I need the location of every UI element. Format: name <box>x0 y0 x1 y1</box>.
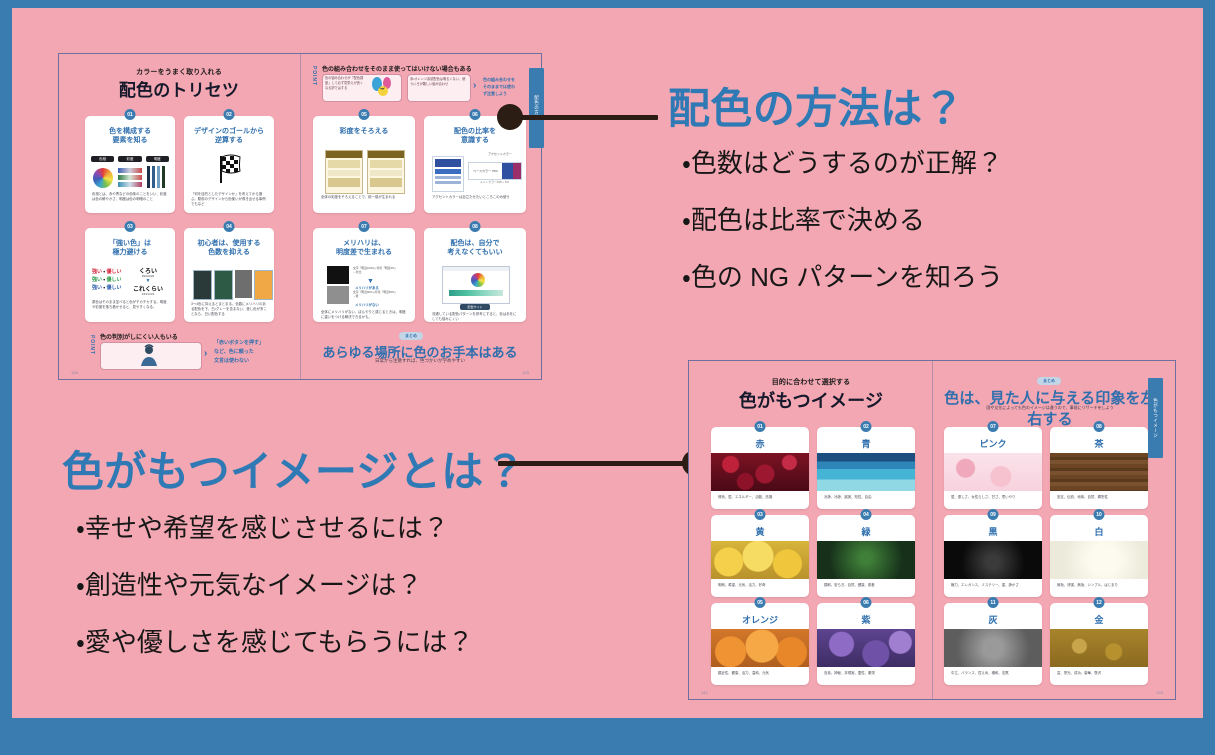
callout-top-title: 配色の方法は？ <box>668 75 965 136</box>
point-label-right: POINT <box>311 66 317 86</box>
color-card-yellow-name: 黄 <box>711 527 809 538</box>
card-04-heading: 初心者は、使用する色数を抑える <box>189 240 269 258</box>
color-card-pink-name: ピンク <box>944 439 1042 450</box>
card-07-badge: 07 <box>359 221 370 232</box>
color-card-gray-keywords: 中立、バランス、控えめ、穏和、沈黙 <box>951 671 1035 676</box>
color-card-black-badge: 09 <box>988 509 999 520</box>
color-card-black-photo <box>944 541 1042 579</box>
point-note-left: 「赤いボタンを押す」など、色に頼った文言は使わない <box>214 339 274 366</box>
color-card-purple-photo <box>817 629 915 667</box>
color-card-green[interactable]: 緑 調和、安らぎ、自然、健康、癒着 <box>817 515 915 597</box>
callout-bottom-title: 色がもつイメージとは？ <box>62 438 526 499</box>
contrast-sample-dark <box>327 266 349 284</box>
leader-line-bottom <box>498 461 694 466</box>
color-card-pink-badge: 07 <box>988 421 999 432</box>
card-05-badge: 05 <box>359 109 370 120</box>
card-05[interactable]: 彩度をそろえる 全体の彩度をそろえることで、統一感が生まれる <box>313 116 415 213</box>
saturation-gradient-3 <box>118 182 142 187</box>
card-06-badge: 06 <box>470 109 481 120</box>
color-card-brown[interactable]: 茶 安定、伝統、地味、自然、郷愁性 <box>1050 427 1148 509</box>
value-bars <box>147 166 165 188</box>
card-02-heading: デザインのゴールから逆算する <box>189 128 269 146</box>
card-01-body: 色相とは、赤や青などの色味のことをいい、彩度は色の鮮やかさ、明度は色の明暗のこと <box>92 192 168 202</box>
color-card-blue-badge: 02 <box>861 421 872 432</box>
card-02[interactable]: デザインのゴールから逆算する 「何を目的としたデザインか」を考えてから選ぶ。駅前… <box>184 116 274 213</box>
card-03-body: 原色はそのまま並べると色がチカチカする。明度や彩度を落ち着かせると、見やすくなる… <box>92 300 168 310</box>
color-card-red-keywords: 情熱、愛、エネルギー、活動、高揚 <box>718 495 802 500</box>
color-card-pink[interactable]: ピンク 愛、優しさ、女性らしさ、甘さ、思いやり <box>944 427 1042 509</box>
card-04-badge: 04 <box>224 221 235 232</box>
color-card-orange-photo <box>711 629 809 667</box>
color-card-blue-photo <box>817 453 915 491</box>
spread-bottom-right-sub: 国や文化によっても色のイメージは違うので、事前にリサーチをしよう <box>939 405 1161 411</box>
spread-top-footer-badge: まとめ <box>399 332 423 340</box>
contrast-sample-light <box>327 286 349 304</box>
color-card-yellow-badge: 03 <box>755 509 766 520</box>
spread-gutter <box>300 54 301 379</box>
color-card-gold-name: 金 <box>1050 615 1148 626</box>
point-box-b-text: 赤・オレンジ系統配色は明るくない、使ういろが難しい組み合わせ <box>410 77 466 87</box>
slide-root: カラーをうまく取り入れる 配色のトリセツ 色を構成する要素を知る 色相 彩度 明… <box>0 0 1215 755</box>
color-card-orange-name: オレンジ <box>711 615 809 626</box>
spread-top-side-tab[interactable]: 配色の方法 <box>529 68 544 148</box>
color-card-blue-name: 青 <box>817 439 915 450</box>
color-card-gold-keywords: 富、栄光、成功、豪華、贅沢 <box>1057 671 1141 676</box>
point-note-right: 色の組み合わせをそのままでは使わず注意しよう <box>483 76 535 97</box>
card-02-body: 「何を目的としたデザインか」を考えてから選ぶ。駅前のデザインから色使いが導き出せ… <box>191 192 267 207</box>
color-wheel-icon <box>93 168 113 188</box>
color-card-red-photo <box>711 453 809 491</box>
color-card-brown-keywords: 安定、伝統、地味、自然、郷愁性 <box>1057 495 1141 500</box>
saturation-gradient <box>118 168 142 173</box>
callout-top-bullet-2: ・配色は比率で決める <box>682 200 925 237</box>
card-01-heading: 色を構成する要素を知る <box>90 128 170 146</box>
color-card-gold-photo <box>1050 629 1148 667</box>
color-card-purple[interactable]: 紫 高貴、神秘、非現実、霊性、繁栄 <box>817 603 915 685</box>
color-card-blue-keywords: 冷静、冷静、誠実、知性、自由 <box>824 495 908 500</box>
page-number-left-top: 128 <box>71 370 78 375</box>
card-07-heading: メリハリは、明度差で生まれる <box>318 240 410 258</box>
color-card-white[interactable]: 白 無垢、清潔、無垢、シンプル、はじまり <box>1050 515 1148 597</box>
card-01[interactable]: 色を構成する要素を知る 色相 彩度 明度 色相とは、赤や青などの色味のことをいい… <box>85 116 175 213</box>
color-card-orange-keywords: 親近性、健康、活力、温和、元気 <box>718 671 802 676</box>
contrast-arrow-1: ▼ <box>367 278 374 285</box>
color-card-yellow-photo <box>711 541 809 579</box>
color-card-white-name: 白 <box>1050 527 1148 538</box>
spread-bottom-right-badge: まとめ <box>1037 377 1061 385</box>
card-03[interactable]: 「強い色」は極力避ける 強い ・ 優しい 強い ・ 優しい 強い ・ 優しい く… <box>85 228 175 322</box>
color-card-purple-badge: 06 <box>861 597 872 608</box>
point-chevron-right-icon: › <box>473 80 476 91</box>
tag-hue: 色相 <box>91 156 114 162</box>
palette-tool-screenshot <box>442 266 510 304</box>
point-chevron-icon: › <box>204 348 207 359</box>
tag-val: 明度 <box>146 156 169 162</box>
card-08-heading: 配色は、自分で考えなくてもいい <box>429 240 521 258</box>
palette-sample <box>193 270 273 300</box>
callout-bottom-bullet-2: ・創造性や元気なイメージは？ <box>76 565 422 602</box>
color-card-white-keywords: 無垢、清潔、無垢、シンプル、はじまり <box>1057 583 1141 588</box>
color-card-black[interactable]: 黒 権力、エレガンス、ミステリー、重、静かさ <box>944 515 1042 597</box>
card-07-body: 全体にメリハリがない、ぼんやりと感じるときは、明度に違いをつける解決できるかも。 <box>321 310 407 320</box>
color-card-white-photo <box>1050 541 1148 579</box>
color-card-purple-name: 紫 <box>817 615 915 626</box>
color-card-white-badge: 10 <box>1094 509 1105 520</box>
book-spread-bottom[interactable]: 目的に合わせて選択する 色がもつイメージ まとめ 色は、見た人に与える印象を左右… <box>688 360 1176 700</box>
card-05-body: 全体の彩度をそろえることで、統一感が生まれる <box>321 195 407 200</box>
color-card-gray-photo <box>944 629 1042 667</box>
cmy-dots-icon <box>369 77 397 102</box>
color-card-gray-badge: 11 <box>988 597 999 608</box>
spread-bottom-gutter <box>932 361 933 699</box>
color-card-green-keywords: 調和、安らぎ、自然、健康、癒着 <box>824 583 908 588</box>
ratio-bar: ベースカラー 70% <box>468 162 522 180</box>
color-card-brown-badge: 08 <box>1094 421 1105 432</box>
card-04[interactable]: 初心者は、使用する色数を抑える 3〜4色に抑えるとまとまる。色数にメリハリのある… <box>184 228 274 322</box>
color-card-red-name: 赤 <box>711 439 809 450</box>
point-label-left: POINT <box>89 335 95 355</box>
spread-bottom-left-kicker: 目的に合わせて選択する <box>707 377 915 387</box>
page-number-left-bottom: 142 <box>701 690 708 695</box>
point-box-a-text: 色の組み合わせが「配色調整」して必ず見栄えが良くなる訳ではする <box>325 76 365 91</box>
color-card-yellow-keywords: 明朗、希望、元気、活力、好奇 <box>718 583 802 588</box>
flyer-sample-a <box>325 150 363 194</box>
saturation-gradient-2 <box>118 175 142 180</box>
color-card-orange[interactable]: オレンジ 親近性、健康、活力、温和、元気 <box>711 603 809 685</box>
ratio-sample-a <box>432 156 464 192</box>
card-07[interactable]: メリハリは、明度差で生まれる 文字「明度100%」・背景「明度0%」→対比 ▼ … <box>313 228 415 322</box>
spread-bottom-side-tab[interactable]: 色がもつイメージ <box>1148 378 1163 458</box>
color-card-gold-badge: 12 <box>1094 597 1105 608</box>
leader-line-top <box>510 115 658 120</box>
callout-bottom-bullet-3: ・愛や優しさを感じてもらうには？ <box>76 622 474 659</box>
color-card-gray[interactable]: 灰 中立、バランス、控えめ、穏和、沈黙 <box>944 603 1042 685</box>
color-card-gold[interactable]: 金 富、栄光、成功、豪華、贅沢 <box>1050 603 1148 685</box>
page-number-right-bottom: 143 <box>1156 690 1163 695</box>
color-card-black-name: 黒 <box>944 527 1042 538</box>
color-card-blue[interactable]: 青 冷静、冷静、誠実、知性、自由 <box>817 427 915 509</box>
color-card-yellow[interactable]: 黄 明朗、希望、元気、活力、好奇 <box>711 515 809 597</box>
color-card-brown-photo <box>1050 453 1148 491</box>
card-08-body: 流通している配色パターンを参考にすると、色はあをにしても悩みにくい <box>432 312 518 322</box>
color-card-red-badge: 01 <box>755 421 766 432</box>
color-card-black-keywords: 権力、エレガンス、ミステリー、重、静かさ <box>951 583 1035 588</box>
color-card-brown-name: 茶 <box>1050 439 1148 450</box>
ratio-caption: メインカラー25% ・ 5% <box>480 180 509 184</box>
color-card-green-name: 緑 <box>817 527 915 538</box>
card-01-badge: 01 <box>125 109 136 120</box>
card-03-badge: 03 <box>125 221 136 232</box>
contrast-note-2: 文字「明度60%」・背景「明度50%」→低 <box>353 290 397 298</box>
card-08[interactable]: 配色は、自分で考えなくてもいい 配色サイト 流通している配色パターンを参考にする… <box>424 228 526 322</box>
spread-bottom-left-title: 色がもつイメージ <box>707 387 915 413</box>
strong-soft-rows: 強い ・ 優しい 強い ・ 優しい 強い ・ 優しい <box>92 268 122 292</box>
card-06-heading: 配色の比率を意識する <box>429 128 521 146</box>
card-02-badge: 02 <box>224 109 235 120</box>
card-03-heading: 「強い色」は極力避ける <box>90 240 170 258</box>
point-title-left: 色の判別がしにくい人もいる <box>100 332 178 341</box>
checkered-flag-icon <box>214 154 246 189</box>
callout-bottom-bullet-1: ・幸せや希望を感じさせるには？ <box>76 508 449 545</box>
card-04-body: 3〜4色に抑えるとまとまる。色数にメリハリのある配色を下、白・グレーを含まない、… <box>191 302 267 317</box>
palette-tool-button: 配色サイト <box>460 304 490 310</box>
color-card-green-photo <box>817 541 915 579</box>
contrast-caption-2: メリハリがない <box>355 302 379 307</box>
contrast-note-1: 文字「明度100%」・背景「明度0%」→対比 <box>353 266 397 274</box>
tag-sat: 彩度 <box>118 156 141 162</box>
color-card-gray-name: 灰 <box>944 615 1042 626</box>
book-spread-top[interactable]: カラーをうまく取り入れる 配色のトリセツ 色を構成する要素を知る 色相 彩度 明… <box>58 53 542 380</box>
color-code-block: くろい #000000 ▼ これくらい #333333 <box>133 266 163 296</box>
leader-dot-top <box>497 104 523 130</box>
card-05-heading: 彩度をそろえる <box>318 128 410 137</box>
spread-top-footer-sub: 日常から注意すれば、色づかいが学めやすい <box>309 358 531 364</box>
accent-color-label: アクセントカラー <box>488 152 512 156</box>
page-number-right-top: 129 <box>522 370 529 375</box>
card-06-body: アクセントカラーは目立たせたいところこのみ使う <box>432 195 518 200</box>
flyer-sample-b <box>367 150 405 194</box>
callout-top-bullet-1: ・色数はどうするのが正解？ <box>682 143 1003 180</box>
color-card-pink-keywords: 愛、優しさ、女性らしさ、甘さ、思いやり <box>951 495 1035 500</box>
card-06[interactable]: 配色の比率を意識する アクセントカラー ベースカラー 70% メインカラー25%… <box>424 116 526 213</box>
color-card-pink-photo <box>944 453 1042 491</box>
card-08-badge: 08 <box>470 221 481 232</box>
callout-top-bullet-3: ・色の NG パターンを知ろう <box>682 257 1003 294</box>
color-card-red[interactable]: 赤 情熱、愛、エネルギー、活動、高揚 <box>711 427 809 509</box>
color-card-orange-badge: 05 <box>755 597 766 608</box>
color-card-green-badge: 04 <box>861 509 872 520</box>
point-title-right: 色の組み合わせをそのまま使ってはいけない場合もある <box>322 64 472 73</box>
color-card-purple-keywords: 高貴、神秘、非現実、霊性、繁栄 <box>824 671 908 676</box>
point-person-icon <box>137 343 161 372</box>
spread-top-left-title: 配色のトリセツ <box>77 76 281 101</box>
